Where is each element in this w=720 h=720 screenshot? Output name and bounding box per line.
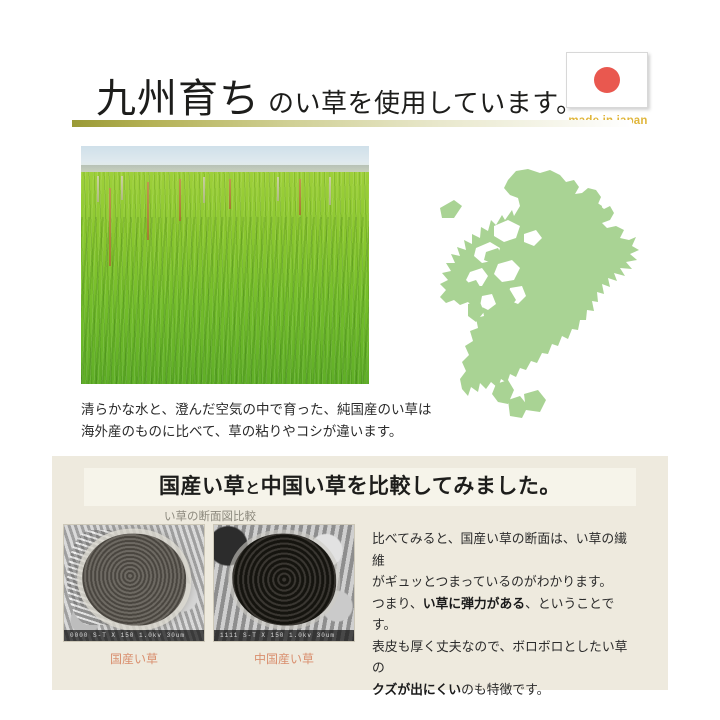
field-stake: [329, 177, 331, 205]
field-stake: [179, 179, 181, 221]
body-line-4: 表皮も厚く丈夫なので、ボロボロとしたい草の: [372, 636, 634, 679]
igusa-field-photo: [81, 146, 369, 384]
field-stake: [109, 188, 111, 266]
body-line-5: クズが出にくいのも特徴です。: [372, 679, 634, 701]
comparison-headline-chinese: 中国い草: [261, 475, 347, 498]
hero-caption: 清らかな水と、澄んだ空気の中で育った、純国産のい草は 海外産のものに比べて、草の…: [81, 399, 461, 443]
title-divider: [72, 120, 632, 127]
comparison-headline: 国産い草と中国い草を比較してみました。: [52, 470, 668, 500]
page-title: 九州育ちのい草を使用しています。: [96, 66, 583, 124]
flag-red-disc: [594, 67, 620, 93]
micro-scale-text: 1111 S-T X 150 1.0kv 30um: [214, 630, 354, 641]
micro-fiber-core: [232, 533, 336, 626]
hero-caption-line-1: 清らかな水と、澄んだ空気の中で育った、純国産のい草は: [81, 399, 461, 421]
body-line-3-emphasis: い草に弾力がある: [423, 596, 525, 611]
page-title-rest: のい草を使用しています。: [268, 88, 583, 118]
kyushu-island-map: [424, 168, 664, 420]
micro-scale-text: 0000 S-T X 150 1.0kv 30um: [64, 630, 204, 641]
micro-scale-bar: 0000 S-T X 150 1.0kv 30um: [64, 630, 204, 641]
body-line-2: がギュッとつまっているのがわかります。: [372, 571, 634, 593]
page-title-emphasis: 九州育ち: [96, 77, 260, 121]
field-stake: [203, 177, 205, 203]
body-line-5-post: のも特徴です。: [461, 682, 549, 697]
photo-grass-texture-2: [81, 217, 369, 384]
body-line-3-pre: つまり、: [372, 596, 423, 611]
body-line-5-emphasis: クズが出にくい: [372, 682, 461, 697]
field-stake: [277, 177, 279, 201]
micro-fiber-core: [82, 533, 186, 626]
domestic-rush-caption: 国産い草: [63, 650, 205, 667]
chinese-rush-cross-section: 1111 S-T X 150 1.0kv 30um: [213, 524, 355, 642]
field-stake: [299, 179, 301, 215]
field-stake: [121, 176, 123, 200]
domestic-rush-cross-section: 0000 S-T X 150 1.0kv 30um: [63, 524, 205, 642]
comparison-body-text: 比べてみると、国産い草の断面は、い草の繊維 がギュッとつまっているのがわかります…: [372, 528, 634, 700]
field-stake: [97, 176, 99, 202]
body-line-1: 比べてみると、国産い草の断面は、い草の繊維: [372, 528, 634, 571]
cross-section-label: い草の断面図比較: [63, 508, 357, 524]
field-stake: [229, 179, 231, 209]
comparison-headline-conjunction: と: [245, 480, 261, 497]
chinese-rush-caption: 中国産い草: [213, 650, 355, 667]
hero-caption-line-2: 海外産のものに比べて、草の粘りやコシが違います。: [81, 421, 461, 443]
micro-scale-bar: 1111 S-T X 150 1.0kv 30um: [214, 630, 354, 641]
field-stake: [147, 182, 149, 240]
comparison-headline-tail: を比較してみました。: [347, 475, 561, 498]
comparison-headline-domestic: 国産い草: [159, 475, 245, 498]
body-line-3: つまり、い草に弾力がある、ということです。: [372, 593, 634, 636]
